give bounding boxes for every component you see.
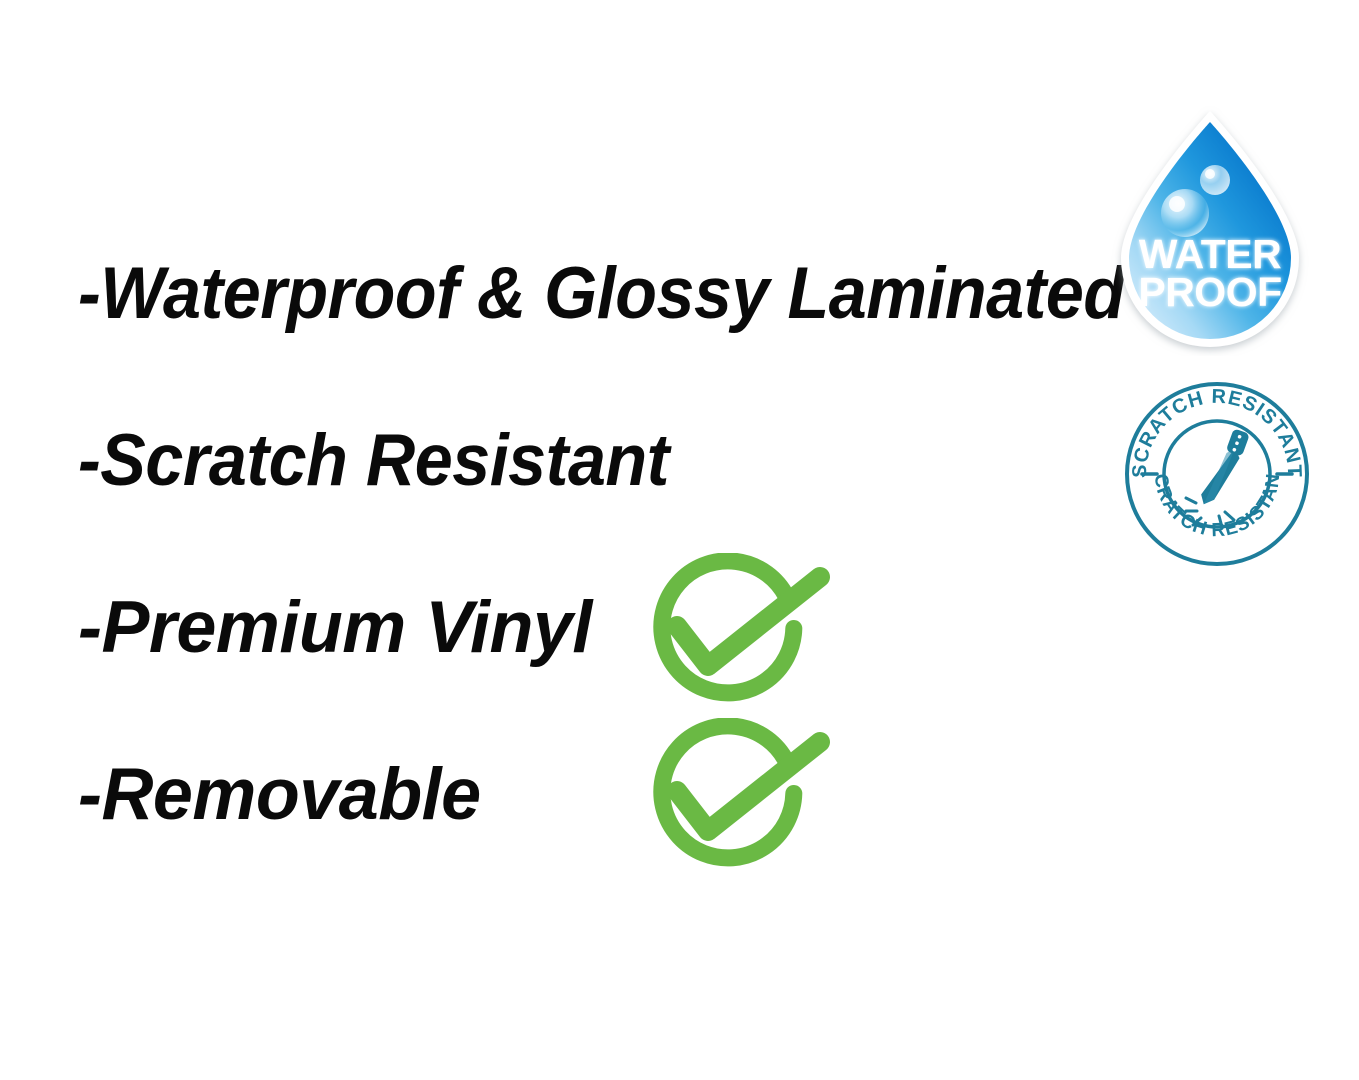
knife-icon [1198,426,1251,511]
feature-item-removable: - Removable [78,753,481,836]
feature-label: Premium Vinyl [101,586,591,669]
feature-label: Scratch Resistant [100,419,669,502]
bubble-small-icon [1200,165,1230,195]
feature-item-waterproof: - Waterproof & Glossy Laminated [78,252,1125,335]
scratch-resistant-badge: SCRATCH RESISTANT SCRATCH RESISTANT [1124,381,1310,567]
waterproof-badge: WATER PROOF [1103,106,1317,356]
feature-bullet-dash: - [78,419,100,502]
feature-label: Waterproof & Glossy Laminated [100,252,1124,335]
feature-label: Removable [101,753,480,836]
check-circle-icon-1 [640,553,832,713]
product-feature-graphic: - Waterproof & Glossy Laminated - Scratc… [0,0,1359,1080]
feature-bullet-dash: - [78,586,101,669]
feature-bullet-dash: - [78,252,100,335]
feature-item-premium-vinyl: - Premium Vinyl [78,586,592,669]
bubble-large-icon [1161,189,1209,237]
feature-bullet-dash: - [78,753,101,836]
feature-list: - Waterproof & Glossy Laminated - Scratc… [0,0,1100,1080]
stamp-text-top: SCRATCH RESISTANT [1129,386,1305,479]
check-circle-icon-2 [640,718,832,878]
waterproof-line-2: PROOF [1138,269,1281,315]
feature-item-scratch-resistant: - Scratch Resistant [78,419,669,502]
